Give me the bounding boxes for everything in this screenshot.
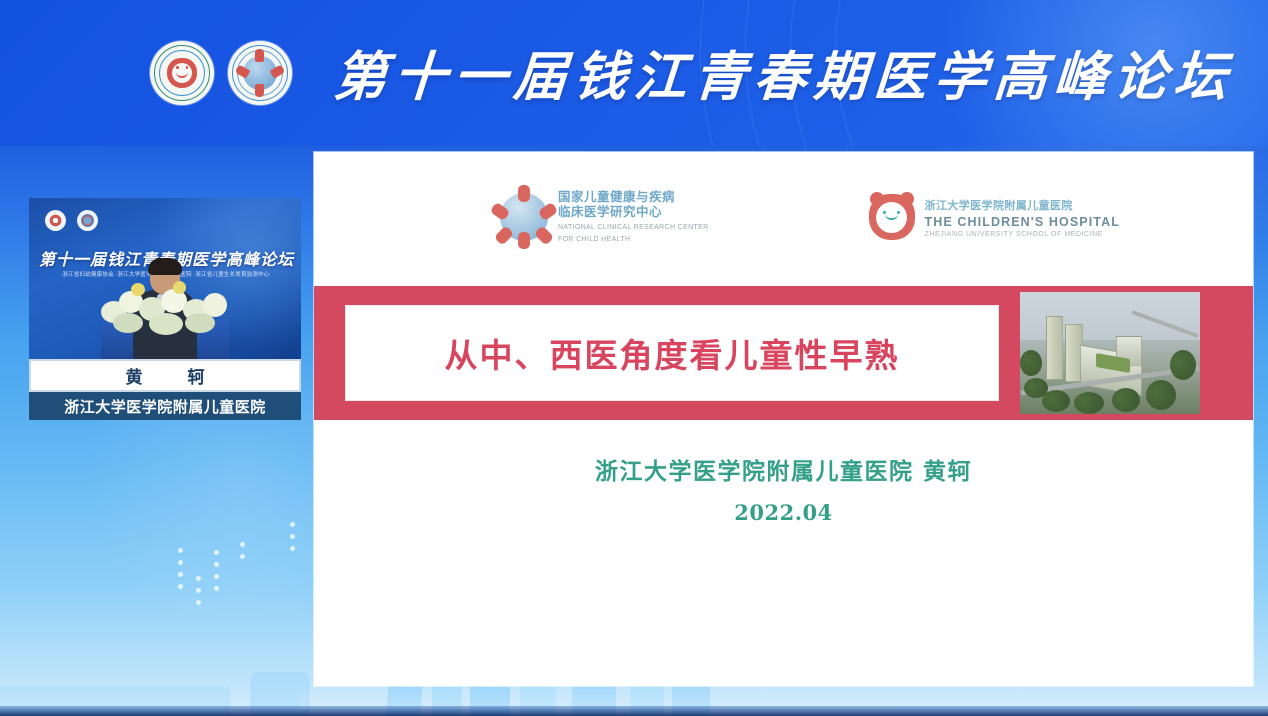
hospital-name-cn: 浙江大学医学院附属儿童医院: [925, 197, 1120, 213]
thumbnail-research-logo-icon: [77, 210, 98, 231]
speaker-affiliation: 浙江大学医学院附属儿童医院: [64, 396, 266, 417]
slide-date: 2022.04: [314, 500, 1253, 525]
research-center-en-line2: FOR CHILD HEALTH: [558, 235, 709, 244]
research-center-seal-icon: [228, 41, 292, 105]
research-center-name-line2: 临床医学研究中心: [558, 205, 709, 220]
research-center-name-line1: 国家儿童健康与疾病: [558, 190, 709, 205]
slide-title: 从中、西医角度看儿童性早熟: [445, 329, 900, 377]
presentation-stage: 第十一届钱江青春期医学高峰论坛 第十一届钱江青春期医学高峰论坛 ·浙江省妇幼健康…: [0, 0, 1268, 716]
childrens-hospital-seal-icon: [150, 41, 214, 105]
presentation-slide[interactable]: 国家儿童健康与疾病 临床医学研究中心 NATIONAL CLINICAL RES…: [314, 152, 1253, 686]
speaker-affiliation-box: 浙江大学医学院附属儿童医院: [29, 392, 301, 420]
slide-title-box: 从中、西医角度看儿童性早熟: [345, 305, 999, 401]
thumbnail-hospital-logo-icon: [45, 210, 66, 231]
hospital-aerial-photo: [1020, 292, 1200, 414]
slide-author-block: 浙江大学医学院附属儿童医院 黄轲 2022.04: [314, 452, 1253, 525]
hospital-name-en-sub: ZHEJIANG UNIVERSITY SCHOOL OF MEDICINE: [925, 231, 1120, 238]
forum-title: 第十一届钱江青春期医学高峰论坛: [331, 35, 1236, 111]
speaker-name: 黄 轲: [112, 363, 219, 388]
slide-author: 浙江大学医学院附属儿童医院 黄轲: [314, 452, 1253, 486]
globe-icon: [500, 193, 548, 241]
childrens-hospital-logo: 浙江大学医学院附属儿童医院 THE CHILDREN'S HOSPITAL ZH…: [869, 194, 1120, 240]
speaker-info-panel: 第十一届钱江青春期医学高峰论坛 ·浙江省妇幼健康协会 ·浙江大学医学院附属儿童医…: [29, 198, 301, 420]
flower-arrangement-graphic: [95, 279, 235, 337]
speaker-name-box: 黄 轲: [29, 359, 301, 392]
research-center-en-line1: NATIONAL CLINICAL RESEARCH CENTER: [558, 223, 709, 232]
forum-header-bar: 第十一届钱江青春期医学高峰论坛: [0, 0, 1268, 146]
speaker-video-thumbnail[interactable]: 第十一届钱江青春期医学高峰论坛 ·浙江省妇幼健康协会 ·浙江大学医学院附属儿童医…: [29, 198, 301, 359]
lion-face-icon: [869, 194, 915, 240]
header-logo-group: [150, 41, 292, 105]
slide-title-band: 从中、西医角度看儿童性早熟: [314, 286, 1253, 420]
slide-logo-row: 国家儿童健康与疾病 临床医学研究中心 NATIONAL CLINICAL RES…: [314, 190, 1253, 244]
thumbnail-logo-group: [45, 210, 98, 231]
national-research-center-logo: 国家儿童健康与疾病 临床医学研究中心 NATIONAL CLINICAL RES…: [500, 190, 709, 244]
hospital-name-en: THE CHILDREN'S HOSPITAL: [925, 215, 1120, 229]
